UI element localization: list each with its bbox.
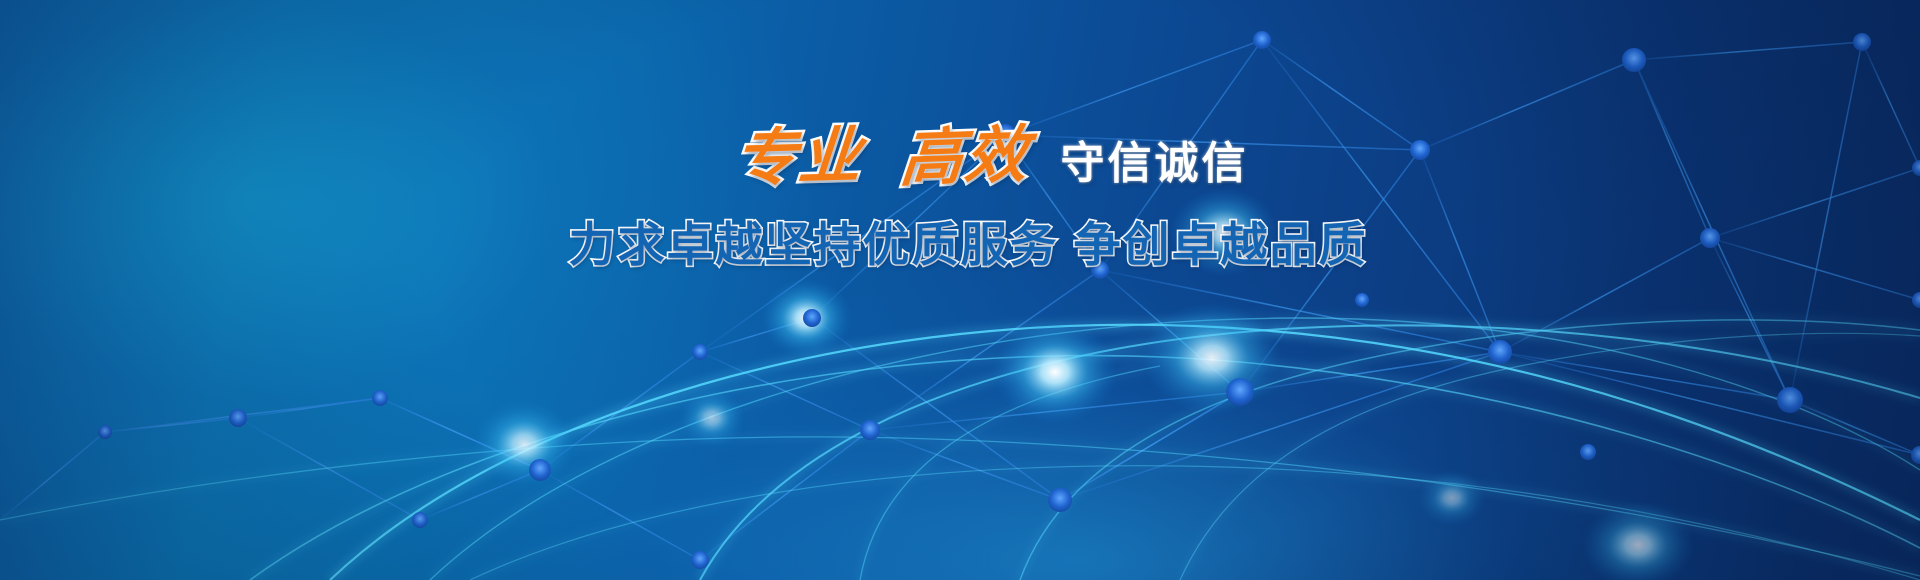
background-vignette [0, 0, 1920, 580]
promotional-banner: 专业 高效 守信诚信 力求卓越坚持优质服务 争创卓越品质 [0, 0, 1920, 580]
